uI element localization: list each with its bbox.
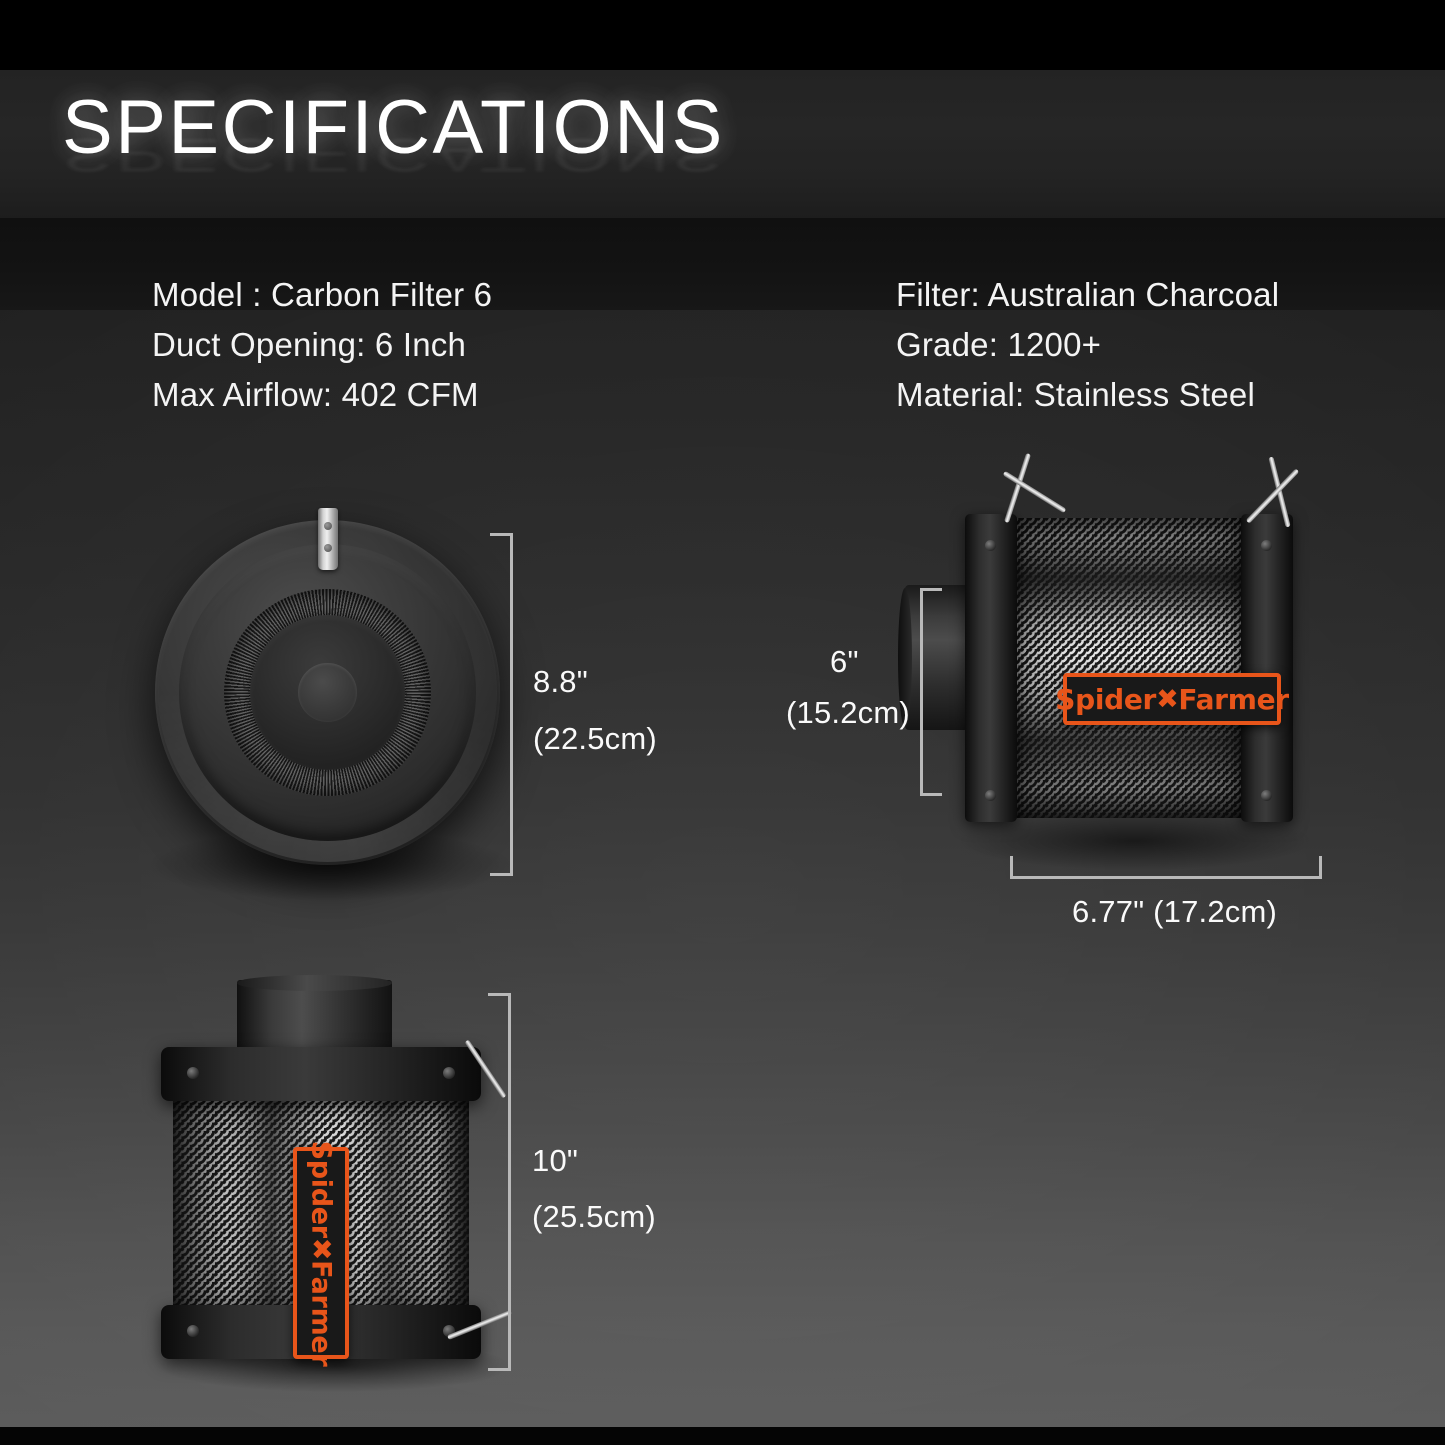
brand-word-one: Spider xyxy=(306,1140,337,1237)
filter-center-hub xyxy=(298,663,357,722)
cap-screw-icon xyxy=(187,1067,199,1079)
dim-bracket-side-arm-top xyxy=(920,588,942,591)
spec-item-duct-opening: Duct Opening: 6 Inch xyxy=(152,320,492,370)
brand-logo-vertical: Spider ✖ Farmer xyxy=(293,1147,349,1359)
dim-bracket-upright-arm-top xyxy=(488,993,511,996)
dim-bracket-front-vertical xyxy=(510,533,513,876)
spec-item-max-airflow: Max Airflow: 402 CFM xyxy=(152,370,492,420)
product-side-view: Spider ✖ Farmer xyxy=(940,500,1290,840)
filter-end-cap-left xyxy=(965,514,1017,822)
cap-screw-icon xyxy=(985,790,996,801)
brand-logo-text: Spider ✖ Farmer xyxy=(1055,683,1289,716)
spec-column-left: Model : Carbon Filter 6 Duct Opening: 6 … xyxy=(152,270,492,420)
filter-body: Spider ✖ Farmer xyxy=(965,518,1290,818)
dim-label-upright-imperial: 10" xyxy=(532,1140,578,1182)
cap-screw-icon xyxy=(1261,790,1272,801)
dim-label-upright-metric: (25.5cm) xyxy=(532,1196,656,1238)
cap-screw-icon xyxy=(1261,540,1272,551)
cap-screw-icon xyxy=(187,1325,199,1337)
clip-screw-icon xyxy=(324,522,332,530)
dim-label-front-imperial: 8.8" xyxy=(533,661,588,703)
dim-bracket-side-arm-bottom xyxy=(920,793,942,796)
dim-bracket-side-arm-left xyxy=(1010,856,1013,879)
product-upright-view: Spider ✖ Farmer xyxy=(165,985,505,1375)
spec-item-filter: Filter: Australian Charcoal xyxy=(896,270,1279,320)
spec-item-grade: Grade: 1200+ xyxy=(896,320,1279,370)
brand-word-two: Farmer xyxy=(1178,683,1288,716)
dim-bracket-upright-vertical xyxy=(508,993,511,1371)
hanger-clip-icon xyxy=(318,508,338,570)
filter-body: Spider ✖ Farmer xyxy=(165,1047,477,1367)
dim-bracket-side-horizontal xyxy=(1010,876,1322,879)
perforated-mesh-panel xyxy=(1013,518,1245,818)
brand-word-one: Spider xyxy=(1055,683,1156,716)
dim-bracket-upright-arm-bottom xyxy=(488,1368,511,1371)
specifications-page: SPECIFICATIONS SPECIFICATIONS Model : Ca… xyxy=(0,0,1445,1445)
brand-logo-text: Spider ✖ Farmer xyxy=(306,1140,337,1366)
spec-item-model: Model : Carbon Filter 6 xyxy=(152,270,492,320)
product-front-view xyxy=(155,520,500,865)
duct-collar-rim xyxy=(237,975,392,991)
brand-word-two: Farmer xyxy=(306,1260,337,1366)
clip-screw-icon xyxy=(324,544,332,552)
dim-bracket-front-arm-top xyxy=(490,533,513,536)
spec-column-right: Filter: Australian Charcoal Grade: 1200+… xyxy=(896,270,1279,420)
dim-bracket-side-arm-right xyxy=(1319,856,1322,879)
spider-icon: ✖ xyxy=(308,1237,335,1259)
dim-label-side-height-metric: (15.2cm) xyxy=(786,692,910,734)
header-band: SPECIFICATIONS SPECIFICATIONS xyxy=(0,70,1445,218)
filter-end-cap-top xyxy=(161,1047,481,1101)
spider-icon: ✖ xyxy=(1156,686,1178,713)
bottom-letterbox-band xyxy=(0,1427,1445,1445)
dim-label-side-height-imperial: 6" xyxy=(830,641,859,683)
filter-end-cap-right xyxy=(1241,514,1293,822)
dim-label-side-width: 6.77" (17.2cm) xyxy=(1072,891,1277,933)
brand-logo-horizontal: Spider ✖ Farmer xyxy=(1063,673,1281,725)
dim-label-front-metric: (22.5cm) xyxy=(533,718,657,760)
dim-bracket-side-vertical xyxy=(920,588,923,796)
dim-bracket-front-arm-bottom xyxy=(490,873,513,876)
spec-item-material: Material: Stainless Steel xyxy=(896,370,1279,420)
cap-screw-icon xyxy=(443,1067,455,1079)
cap-screw-icon xyxy=(985,540,996,551)
page-title: SPECIFICATIONS xyxy=(62,84,725,171)
top-letterbox-band xyxy=(0,0,1445,70)
